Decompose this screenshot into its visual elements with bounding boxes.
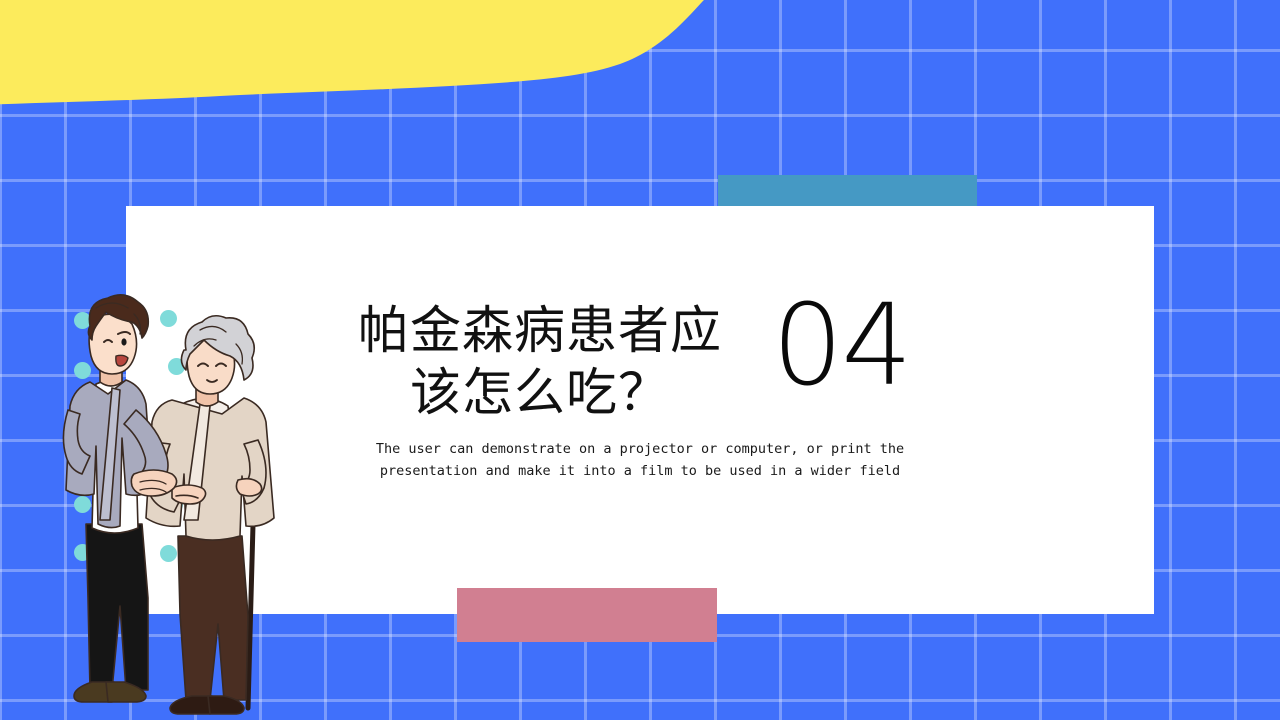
headline-row: 帕金森病患者应 该怎么吃？ 04 xyxy=(330,300,1050,424)
subtitle-text: The user can demonstrate on a projector … xyxy=(330,438,950,482)
slide-text-block: 帕金森病患者应 该怎么吃？ 04 The user can demonstrat… xyxy=(330,300,1050,482)
section-number: 04 xyxy=(772,294,911,398)
presentation-slide: 帕金森病患者应 该怎么吃？ 04 The user can demonstrat… xyxy=(0,0,1280,720)
caregiver-illustration xyxy=(60,292,300,720)
page-title: 帕金森病患者应 该怎么吃？ xyxy=(330,300,750,424)
yellow-wave-shape xyxy=(0,0,780,110)
pink-accent-block xyxy=(457,588,717,642)
